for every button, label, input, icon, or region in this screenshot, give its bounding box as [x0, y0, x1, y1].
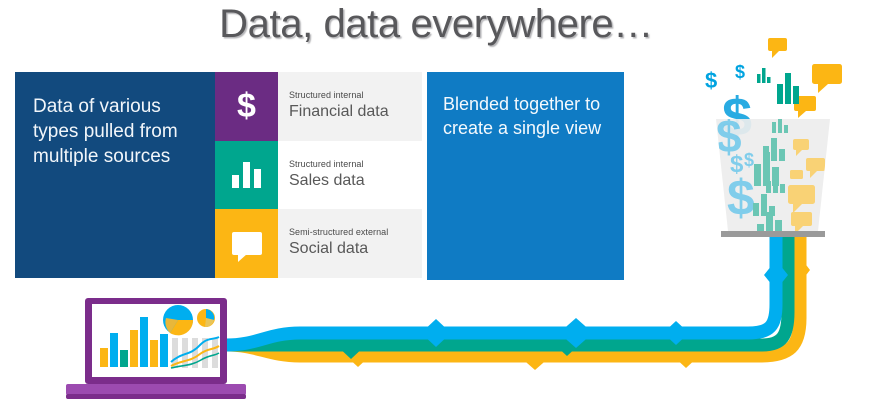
social-data-labels: Semi-structured external Social data: [278, 209, 422, 278]
bar-chart-glyph: [232, 162, 262, 188]
floating-icons-group: $ $ $: [705, 38, 842, 147]
panel-data-sources-text: Data of various types pulled from multip…: [33, 94, 195, 169]
dashboard-pie-chart-small: [197, 309, 215, 327]
laptop-screen-frame: [85, 298, 227, 384]
funnel-contents: $ $ $ $: [716, 110, 825, 249]
dollar-icon: $: [722, 87, 752, 147]
sales-data-title: Sales data: [289, 171, 422, 191]
list-item-sales-data[interactable]: Structured internal Sales data: [215, 141, 422, 210]
slide-canvas: Data, data everywhere… Data of various t…: [0, 0, 872, 417]
bar-chart-icon: [757, 68, 771, 83]
laptop-dashboard[interactable]: [66, 298, 246, 399]
speech-bubble-icon: [794, 96, 816, 118]
bar-chart-icon: [215, 141, 278, 210]
panel-blended-view: Blended together to create a single view: [427, 72, 624, 280]
funnel-base-plate: [721, 231, 825, 237]
laptop-base: [66, 384, 246, 395]
data-funnel: $ $ $ $: [716, 110, 830, 249]
panel-blended-view-text: Blended together to create a single view: [443, 92, 608, 140]
social-data-title: Social data: [289, 239, 422, 259]
bar-chart-icon: [777, 73, 799, 104]
page-title: Data, data everywhere…: [0, 2, 872, 47]
dollar-icon: $: [705, 68, 717, 93]
financial-data-title: Financial data: [289, 102, 422, 122]
dollar-icon: $: [215, 72, 278, 141]
panel-data-sources: Data of various types pulled from multip…: [15, 72, 215, 278]
financial-data-kicker: Structured internal: [289, 90, 422, 101]
svg-text:$: $: [744, 150, 754, 170]
svg-text:$: $: [716, 110, 742, 162]
svg-text:$: $: [727, 170, 755, 226]
speech-bubble-icon: [215, 209, 278, 278]
social-data-kicker: Semi-structured external: [289, 227, 422, 238]
data-type-list: $ Structured internal Financial data Str…: [215, 72, 422, 278]
sales-data-labels: Structured internal Sales data: [278, 141, 422, 210]
laptop-base-edge: [66, 394, 246, 399]
dollar-icon: $: [735, 62, 745, 82]
dashboard-line-chart: [171, 337, 219, 368]
financial-data-labels: Structured internal Financial data: [278, 72, 422, 141]
speech-bubble-glyph: [232, 232, 262, 255]
svg-text:$: $: [730, 151, 744, 178]
dashboard-content: [100, 305, 219, 368]
dashboard-pie-chart-large: [163, 305, 193, 335]
laptop-screen: [92, 304, 220, 377]
dashboard-bar-chart: [100, 317, 168, 367]
list-item-financial-data[interactable]: $ Structured internal Financial data: [215, 72, 422, 141]
dollar-glyph: $: [237, 89, 256, 123]
list-item-social-data[interactable]: Semi-structured external Social data: [215, 209, 422, 278]
speech-bubble-icon: [812, 64, 842, 93]
sales-data-kicker: Structured internal: [289, 159, 422, 170]
